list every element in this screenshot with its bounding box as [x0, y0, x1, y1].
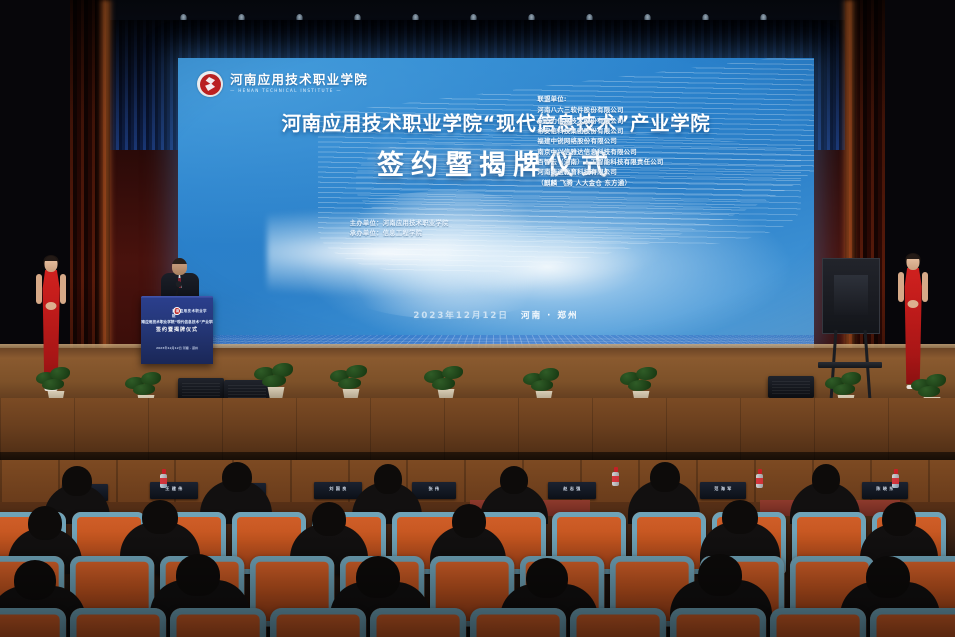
podium: 河南应用技术职业学院 河南应用技术职业学院“现代信息技术”产业学院 签约暨揭牌仪…: [141, 296, 213, 364]
speaker-at-podium: [160, 258, 200, 300]
audience-shadow: [0, 460, 955, 637]
podium-banner-line-2: 签约暨揭牌仪式: [156, 326, 198, 333]
stage-monitor: [178, 378, 224, 400]
potted-plant: [250, 358, 302, 402]
stage-monitor: [768, 376, 814, 398]
audience-area: 李 明 王 建 伟 卢 刚 刘 国 良 张 伟 赵 志 强 范 海 军 陈 晓 …: [0, 460, 955, 637]
podium-logo-text: 河南应用技术职业学院: [172, 308, 208, 318]
photo-scene: 河南应用技术职业学院 — HENAN TECHNICAL INSTITUTE —…: [0, 0, 955, 637]
curtain-glow-left: [98, 0, 114, 400]
podium-banner-line-3: 2023年12月12日 河南 · 郑州: [156, 346, 198, 350]
led-screen: 河南应用技术职业学院 — HENAN TECHNICAL INSTITUTE —…: [178, 58, 814, 348]
podium-banner-line-1: 河南应用技术职业学院“现代信息技术”产业学院: [141, 320, 213, 325]
stage-apron: [0, 398, 955, 460]
screen-vignette: [178, 58, 814, 348]
hostess-in-red-qipao-right: [890, 254, 936, 386]
